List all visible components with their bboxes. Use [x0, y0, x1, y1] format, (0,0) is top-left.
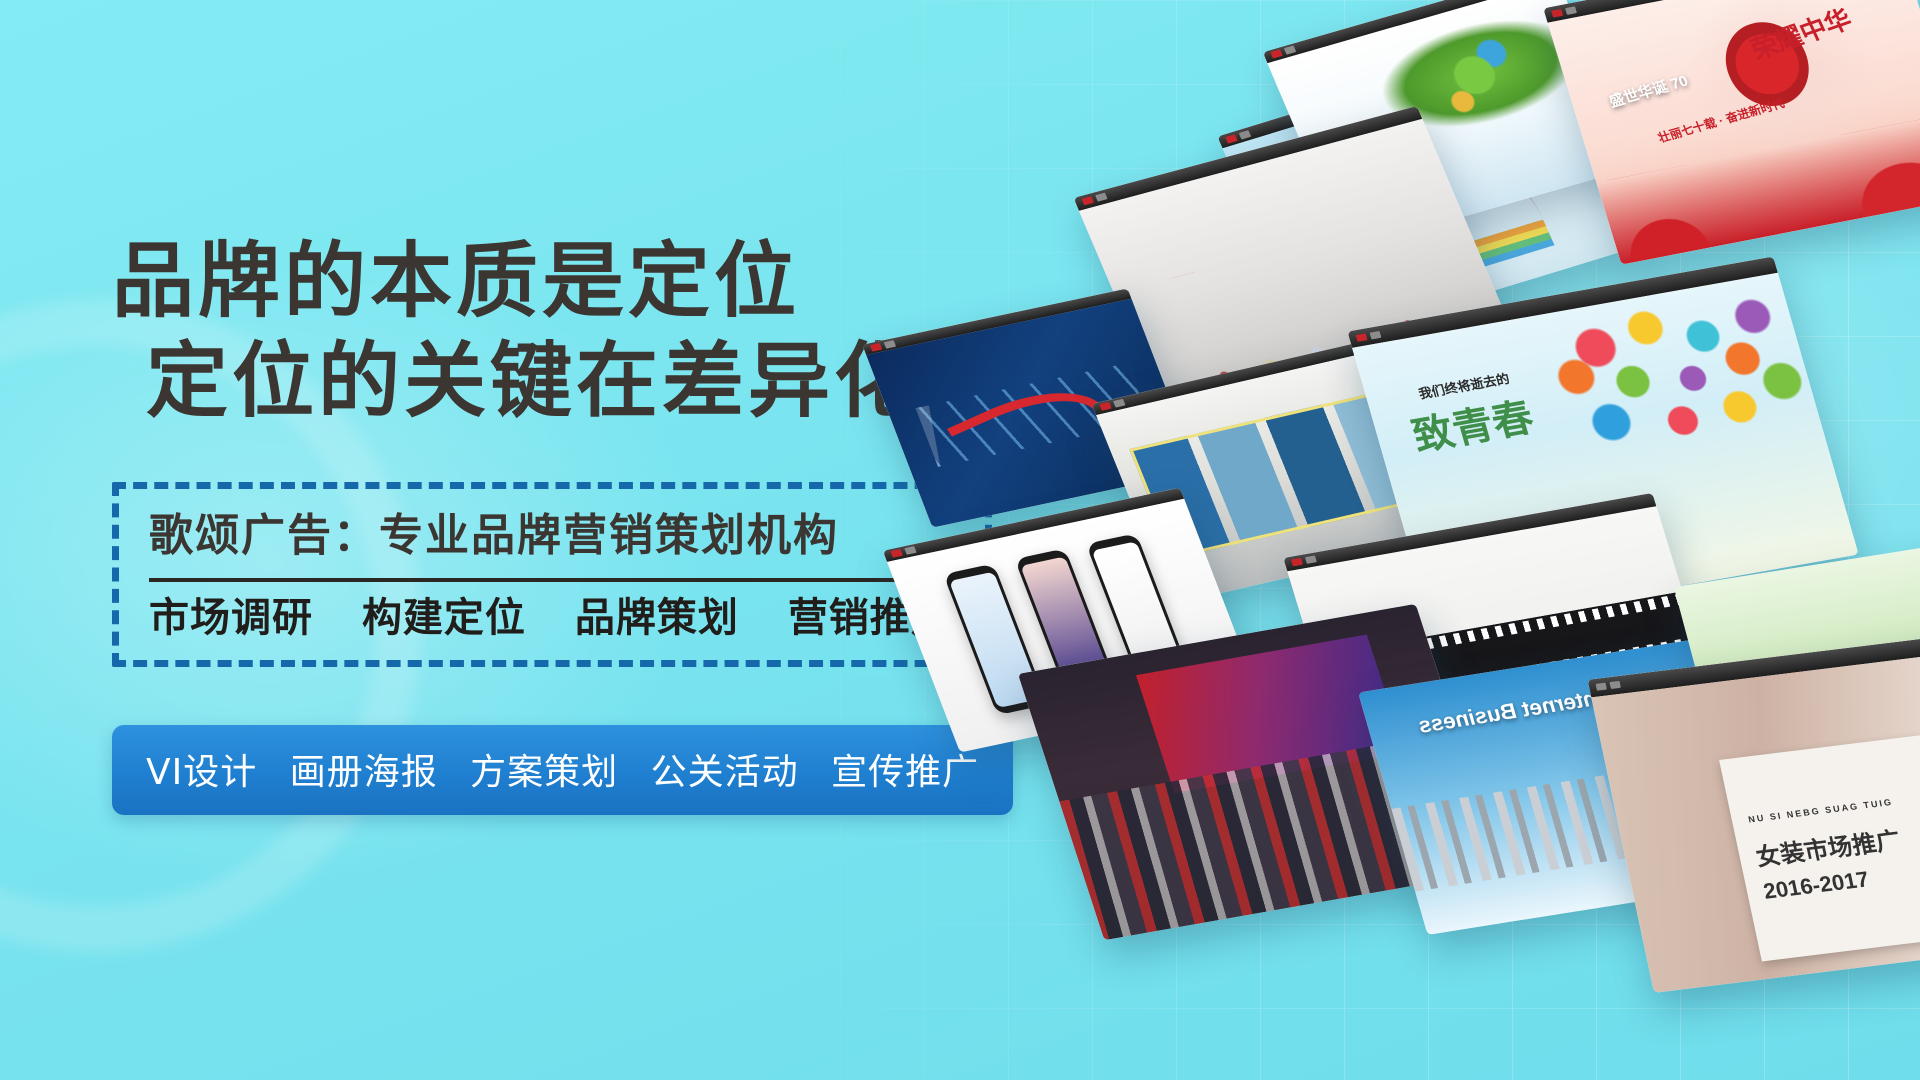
- promo-card: NU SI NEBG SUAG TUIG 女装市场推广 2016-2017: [1719, 735, 1920, 961]
- close-icon: [1551, 9, 1563, 18]
- decorative-flowers: [1596, 113, 1920, 264]
- pill-item-2: 方案策划: [470, 752, 618, 793]
- promo-card-years: 2016-2017: [1761, 866, 1871, 904]
- poster-caption: Internet Business: [1415, 685, 1606, 739]
- portfolio-collage: 盛世华诞 70 荣耀中华 壮丽七十载 · 奋进新时代: [1000, 0, 1920, 1080]
- pill-item-3: 公关活动: [651, 752, 799, 793]
- pill-item-0: VI设计: [146, 752, 257, 793]
- minimize-icon: [1596, 683, 1607, 691]
- callout-title: 歌颂广告：专业品牌营销策划机构: [149, 509, 955, 564]
- balloon-cluster: [1533, 275, 1847, 496]
- promo-banner: 品牌的本质是定位 定位的关键在差异化 歌颂广告：专业品牌营销策划机构 市场调研 …: [0, 0, 1920, 1080]
- poster-sub: 盛世华诞 70: [1605, 70, 1690, 112]
- minimize-icon: [1305, 556, 1317, 564]
- close-icon: [891, 549, 903, 558]
- poster-tagline: 壮丽七十载 · 奋进新时代: [1655, 95, 1787, 147]
- service-item-0: 市场调研: [149, 594, 313, 641]
- service-item-1: 构建定位: [362, 594, 526, 641]
- close-icon: [1356, 333, 1368, 341]
- callout-divider: [149, 578, 955, 582]
- close-icon: [1099, 402, 1111, 411]
- pill-item-4: 宣传推广: [831, 752, 979, 793]
- close-icon: [1291, 558, 1303, 566]
- headline-line-2: 定位的关键在差异化: [112, 332, 992, 432]
- close-icon: [1225, 134, 1237, 143]
- copy-block: 品牌的本质是定位 定位的关键在差异化 歌颂广告：专业品牌营销策划机构 市场调研 …: [112, 232, 992, 815]
- close-icon: [1082, 197, 1094, 206]
- minimize-icon: [1284, 46, 1296, 55]
- service-list: 市场调研 构建定位 品牌策划 营销推广: [149, 594, 955, 642]
- shot-content: NU SI NEBG SUAG TUIG 女装市场推广 2016-2017: [1591, 644, 1920, 992]
- dashed-callout-box: 歌颂广告：专业品牌营销策划机构 市场调研 构建定位 品牌策划 营销推广: [112, 482, 992, 667]
- minimize-icon: [1370, 331, 1382, 339]
- headline-line-1: 品牌的本质是定位: [112, 234, 800, 329]
- minimize-icon: [1095, 193, 1107, 202]
- pill-item-1: 画册海报: [290, 752, 438, 793]
- services-pill-button[interactable]: VI设计 画册海报 方案策划 公关活动 宣传推广: [112, 725, 1013, 815]
- maximize-icon: [1610, 681, 1621, 689]
- service-item-2: 品牌策划: [575, 594, 739, 641]
- close-icon: [870, 343, 882, 352]
- collage-shot-womens-fashion-promo[interactable]: NU SI NEBG SUAG TUIG 女装市场推广 2016-2017: [1588, 627, 1920, 993]
- minimize-icon: [904, 546, 916, 555]
- minimize-icon: [884, 340, 896, 349]
- minimize-icon: [1113, 399, 1125, 408]
- headline: 品牌的本质是定位 定位的关键在差异化: [112, 232, 992, 432]
- promo-card-title: 女装市场推广: [1752, 821, 1903, 873]
- minimize-icon: [1239, 130, 1251, 139]
- promo-card-kicker: NU SI NEBG SUAG TUIG: [1747, 797, 1894, 825]
- minimize-icon: [1565, 6, 1577, 15]
- close-icon: [1270, 50, 1282, 59]
